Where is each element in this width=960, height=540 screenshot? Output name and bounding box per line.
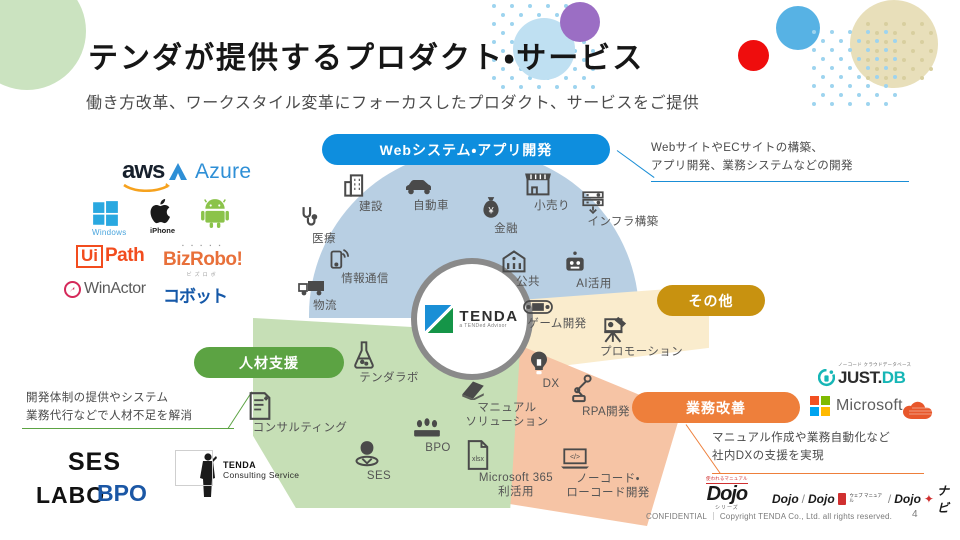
badge-jinzai[interactable]: 人材支援 <box>194 347 344 378</box>
item-ses[interactable]: SES <box>354 440 404 483</box>
svg-text:xlsx: xlsx <box>472 456 484 463</box>
item-manual-solution[interactable]: マニュアル ソリューション <box>459 378 555 430</box>
justdb-text-1: JUST. <box>838 368 882 387</box>
tenda-logo-tagline: a TENDed Advisor <box>459 324 518 329</box>
callout-web: WebサイトやECサイトの構築、 アプリ開発、業務システムなどの開発 <box>651 140 853 176</box>
bpo-logo: BPO <box>97 480 147 507</box>
laptop-code-icon: </> <box>560 447 656 471</box>
easel-icon <box>600 316 682 344</box>
dojo-logo: 使われるマニュアル Dojo シリーズ <box>706 476 748 511</box>
slide-root: テンダが提供するプロダクト・サービス 働き方改革、ワークスタイル変革にフォーカス… <box>0 0 960 540</box>
item-label: 物流 <box>297 299 353 313</box>
lightbulb-head-icon <box>526 350 576 376</box>
tcs-line2: Consulting Service <box>223 470 299 480</box>
tcs-line1: TENDA <box>223 460 299 470</box>
item-label: ゲーム開発 <box>522 317 592 331</box>
robot-arm-icon <box>570 374 642 404</box>
callout-kaizen: マニュアル作成や業務自動化など 社内DXの支援を実現 <box>712 430 890 466</box>
item-ai[interactable]: AI活用 <box>562 250 626 291</box>
callout-jinzai-underline <box>22 428 234 429</box>
uipath-ui-text: Ui <box>76 245 103 268</box>
dojo-navi-mark-icon: ✦ <box>924 492 934 506</box>
windows-logo-text: Windows <box>92 228 127 237</box>
item-label: ノーコード・ ローコード開発 <box>560 472 656 501</box>
azure-logo: Azure <box>168 160 251 184</box>
bizrobo-logo-sub: ビズロボ <box>163 271 242 278</box>
item-retail[interactable]: 小売り <box>524 172 580 213</box>
android-logo <box>200 198 230 228</box>
item-label: SES <box>354 469 404 483</box>
callout-web-line2: アプリ開発、業務システムなどの開発 <box>651 158 853 176</box>
uipath-path-text: Path <box>105 245 144 267</box>
callout-web-underline <box>651 181 909 182</box>
game-console-icon <box>522 298 592 316</box>
people-group-icon <box>412 418 464 440</box>
item-promotion[interactable]: プロモーション <box>600 316 682 359</box>
dojo-sep-2: / <box>888 492 891 506</box>
dojo-variant-a: Dojo <box>772 492 799 506</box>
item-consulting[interactable]: コンサルティング <box>248 392 352 435</box>
robot-icon <box>562 250 626 276</box>
document-plus-icon <box>248 392 352 420</box>
government-icon <box>500 250 556 274</box>
iphone-logo-text: iPhone <box>150 226 175 235</box>
item-label: BPO <box>412 441 464 455</box>
truck-icon <box>297 278 353 298</box>
item-label: 公共 <box>500 275 556 289</box>
xlsx-file-icon: xlsx <box>465 440 567 470</box>
microsoft-logo-text: Microsoft <box>836 397 903 415</box>
justdb-logo: ノーコード クラウドデータベース JUST.DB <box>818 362 911 388</box>
deco-circle-red <box>738 40 769 71</box>
dojo-logo-text: Dojo <box>706 484 748 504</box>
item-label: Microsoft 365 利活用 <box>465 471 567 500</box>
android-icon <box>200 198 230 228</box>
winactor-mark-icon <box>64 281 81 298</box>
deco-circle-blue <box>776 6 820 50</box>
page-subtitle: 働き方改革、ワークスタイル変革にフォーカスしたプロダクト、サービスをご提供 <box>86 89 699 113</box>
badge-web[interactable]: Webシステム・アプリ開発 <box>322 134 610 165</box>
car-icon <box>403 176 459 198</box>
microsoft-logo: Microsoft <box>810 396 903 416</box>
justdb-text-2: DB <box>882 368 906 387</box>
justdb-icon <box>818 369 835 388</box>
tenda-mark-icon <box>425 305 453 333</box>
badge-other[interactable]: その他 <box>657 285 765 316</box>
item-label: AI活用 <box>562 277 626 291</box>
dojo-variant-b: Dojo <box>808 492 835 506</box>
page-number: 4 <box>912 509 918 520</box>
smartphone-signal-icon <box>325 245 405 271</box>
item-nocode-lowcode[interactable]: </> ノーコード・ ローコード開発 <box>560 447 656 501</box>
deco-circle-green <box>0 0 86 90</box>
callout-kaizen-line1: マニュアル作成や業務自動化など <box>712 430 890 448</box>
callout-jinzai: 開発体制の提供やシステム 業務代行などで人材不足を解消 <box>26 390 192 426</box>
iphone-logo: iPhone <box>150 198 175 235</box>
item-tenda-lab[interactable]: テンダラボ <box>352 340 426 385</box>
tenda-consulting-logo: TENDA Consulting Service <box>175 450 299 498</box>
building-icon <box>343 172 399 199</box>
dojo-variant-e: ナビ <box>937 482 960 516</box>
item-construction[interactable]: 建設 <box>343 172 399 214</box>
svg-text:</>: </> <box>570 454 580 461</box>
server-icon <box>580 190 666 214</box>
item-label: インフラ構築 <box>580 215 666 229</box>
item-label: マニュアル ソリューション <box>459 401 555 430</box>
item-public[interactable]: 公共 <box>500 250 556 289</box>
callout-kaizen-underline <box>712 473 924 474</box>
winactor-logo: WinActor <box>64 280 146 298</box>
item-logistics[interactable]: 物流 <box>297 278 353 313</box>
person-icon <box>354 440 404 468</box>
item-label: 自動車 <box>403 199 459 213</box>
item-label: 金融 <box>478 222 534 236</box>
page-title: テンダが提供するプロダクト・サービス <box>88 33 644 77</box>
uipath-logo: Ui Path <box>76 245 144 268</box>
winactor-logo-text: WinActor <box>84 280 146 298</box>
item-automotive[interactable]: 自動車 <box>403 176 459 213</box>
dojo-sep-1: / <box>802 492 805 506</box>
footer-confidential: CONFIDENTIAL ｜ Copyright TENDA Co., Ltd.… <box>646 511 892 522</box>
item-label: プロモーション <box>600 345 682 359</box>
item-label: RPA開発 <box>570 405 642 419</box>
callout-jinzai-line2: 業務代行などで人材不足を解消 <box>26 408 192 426</box>
windows-logo: Windows <box>92 200 127 237</box>
svg-text:¥: ¥ <box>487 205 494 215</box>
azure-icon <box>168 162 190 182</box>
bizrobo-logo: ▪ ▪ ▪ ▪ ▪ BizRobo! ビズロボ <box>163 243 242 278</box>
callout-jinzai-line1: 開発体制の提供やシステム <box>26 390 192 408</box>
book-icon <box>459 378 555 400</box>
salesforce-logo <box>900 398 942 424</box>
badge-kaizen[interactable]: 業務改善 <box>632 392 800 423</box>
dojo-variant-c: ウェブ マニュアル <box>849 494 885 504</box>
tenda-logo-name: TENDA <box>459 309 518 325</box>
dojo-web-manual-icon <box>838 493 847 505</box>
item-label: 建設 <box>343 200 399 214</box>
shop-icon <box>524 172 580 198</box>
cloud-icon <box>900 398 942 424</box>
dojo-variant-d: Dojo <box>894 492 921 506</box>
aws-logo: aws <box>122 160 174 192</box>
callout-kaizen-line2: 社内DXの支援を実現 <box>712 448 890 466</box>
item-rpa-dev[interactable]: RPA開発 <box>570 374 642 419</box>
kobot-logo: コボット <box>163 282 227 307</box>
item-label: 小売り <box>524 199 580 213</box>
ses-logo: SES <box>68 448 121 477</box>
item-bpo[interactable]: BPO <box>412 418 464 455</box>
labo-logo: LABO <box>36 482 105 509</box>
tcs-frame <box>175 450 213 486</box>
bizrobo-logo-text: BizRobo! <box>163 249 242 271</box>
aws-logo-text: aws <box>122 160 174 182</box>
microsoft-icon <box>810 396 830 416</box>
item-microsoft365[interactable]: xlsx Microsoft 365 利活用 <box>465 440 567 500</box>
flask-icon <box>352 340 426 370</box>
item-label: テンダラボ <box>352 371 426 385</box>
windows-icon <box>92 200 119 227</box>
item-label: コンサルティング <box>248 421 352 435</box>
azure-logo-text: Azure <box>195 160 251 184</box>
item-game-dev[interactable]: ゲーム開発 <box>522 298 592 331</box>
apple-icon <box>150 198 174 225</box>
callout-web-line1: WebサイトやECサイトの構築、 <box>651 140 853 158</box>
dojo-logo-sub: シリーズ <box>706 504 748 511</box>
item-infrastructure[interactable]: インフラ構築 <box>580 190 666 229</box>
